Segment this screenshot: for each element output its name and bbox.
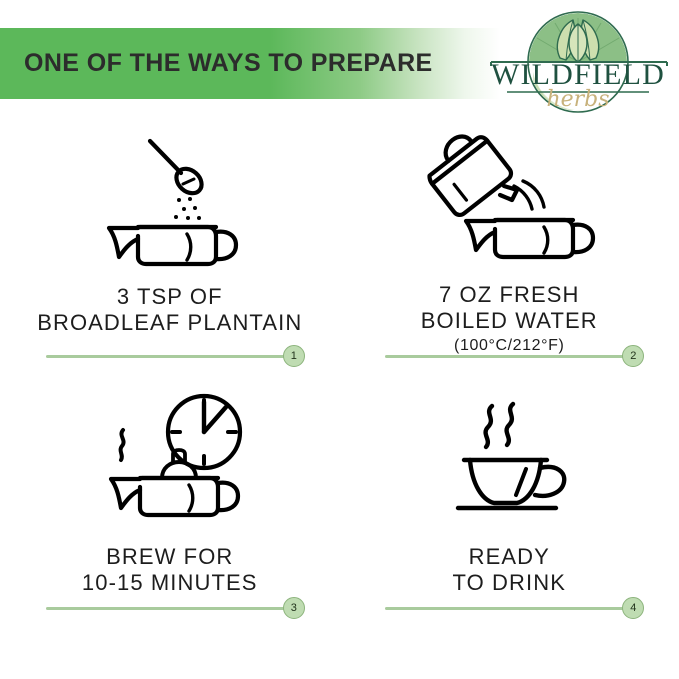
step-3-text: BREW FOR 10-15 MINUTES (82, 544, 258, 596)
step-2-progress: 2 (340, 344, 679, 368)
step-4-line-1: READY (452, 544, 566, 570)
step-3: BREW FOR 10-15 MINUTES 3 (0, 388, 340, 648)
teapot-with-clock-icon (80, 388, 260, 528)
header: ONE OF THE WAYS TO PREPARE (0, 0, 679, 128)
progress-line (46, 355, 294, 358)
infographic-page: ONE OF THE WAYS TO PREPARE (0, 0, 679, 679)
steps-grid: 3 TSP OF BROADLEAF PLANTAIN 1 (0, 128, 679, 648)
progress-line (46, 607, 294, 610)
brand-logo: WILDFIELD herbs (485, 6, 671, 118)
brand-sub: herbs (546, 87, 609, 112)
step-number-badge: 4 (622, 597, 644, 619)
teaspoon-pouring-into-teapot-icon (95, 128, 245, 268)
step-2-line-2: BOILED WATER (421, 308, 598, 334)
step-4-progress: 4 (340, 596, 679, 620)
step-4-line-2: TO DRINK (452, 570, 566, 596)
step-1-line-1: 3 TSP OF (37, 284, 302, 310)
step-1-text: 3 TSP OF BROADLEAF PLANTAIN (37, 284, 302, 336)
step-number-badge: 3 (283, 597, 305, 619)
step-2-line-1: 7 OZ FRESH (421, 282, 598, 308)
step-3-line-2: 10-15 MINUTES (82, 570, 258, 596)
kettle-pouring-into-teapot-icon (414, 128, 604, 268)
step-1-progress: 1 (0, 344, 340, 368)
page-title: ONE OF THE WAYS TO PREPARE (24, 47, 433, 79)
steaming-teacup-icon (434, 388, 584, 528)
step-2: 7 OZ FRESH BOILED WATER (100°C/212°F) 2 (340, 128, 679, 388)
progress-line (385, 607, 633, 610)
step-4-text: READY TO DRINK (452, 544, 566, 596)
step-4: READY TO DRINK 4 (340, 388, 679, 648)
step-3-progress: 3 (0, 596, 340, 620)
progress-line (385, 355, 633, 358)
step-3-line-1: BREW FOR (82, 544, 258, 570)
step-number-badge: 2 (622, 345, 644, 367)
step-1: 3 TSP OF BROADLEAF PLANTAIN 1 (0, 128, 340, 388)
step-1-line-2: BROADLEAF PLANTAIN (37, 310, 302, 336)
step-number-badge: 1 (283, 345, 305, 367)
